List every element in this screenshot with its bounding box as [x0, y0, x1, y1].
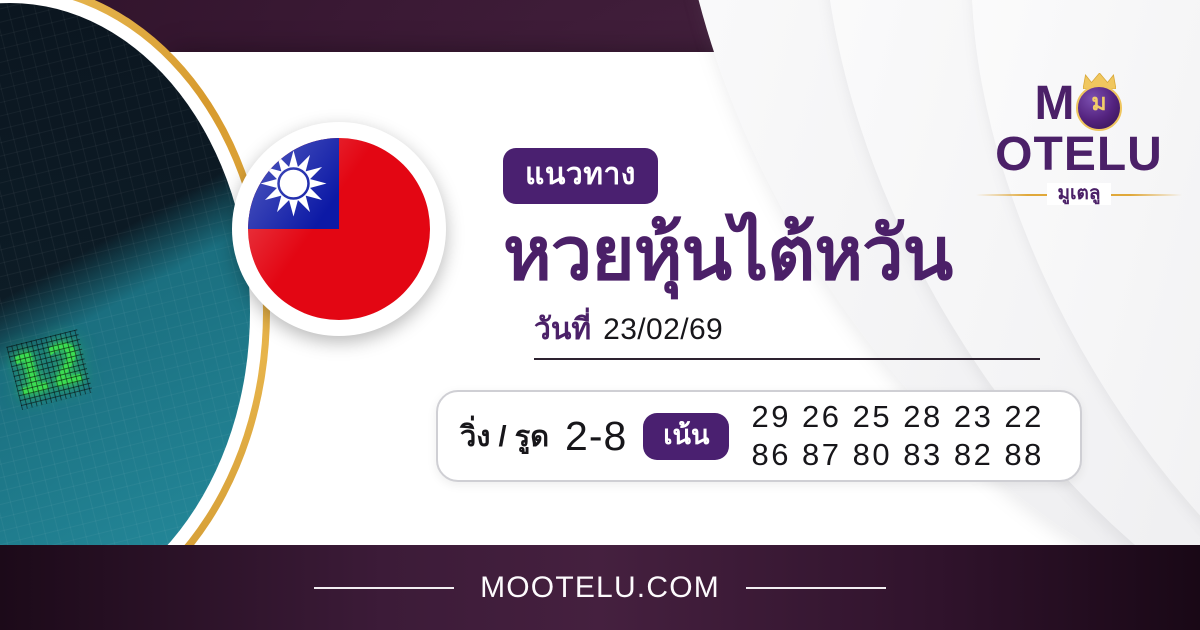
taiwan-flag-icon: [248, 138, 430, 320]
footer-site: MOOTELU.COM: [480, 571, 720, 605]
flag-gloss: [248, 138, 430, 320]
led-board: 2.81 8.37 7.78 12.40 0.99 0.68 17.21 1.3…: [0, 3, 250, 621]
brand-logo[interactable]: MมOTELU มูเตลู: [968, 78, 1190, 205]
crown-medallion-icon: ม: [1076, 82, 1122, 128]
led-value: 12: [6, 329, 93, 410]
footer-rule-right: [746, 587, 886, 589]
footer-bar: MOOTELU.COM: [0, 545, 1200, 630]
focus-badge: เน้น: [643, 413, 729, 460]
date-line: วันที่ 23/02/69: [534, 306, 1040, 360]
page-title: หวยหุ้นไต้หวัน: [503, 216, 1063, 291]
focus-numbers-row: 29 26 25 28 23 22: [751, 399, 1043, 435]
flag-badge: [232, 122, 446, 336]
guide-badge: แนวทาง: [503, 148, 658, 204]
brand-word-post: OTELU: [995, 131, 1163, 179]
brand-subtitle-wrap: มูเตลู: [968, 183, 1190, 205]
medallion-char: ม: [1076, 91, 1122, 114]
numbers-panel: วิ่ง / รูด 2-8 เน้น 29 26 25 28 23 22 86…: [436, 390, 1082, 482]
poster-canvas: 2.81 8.37 7.78 12.40 0.99 0.68 17.21 1.3…: [0, 0, 1200, 630]
footer-rule-left: [314, 587, 454, 589]
run-label: วิ่ง / รูด: [460, 413, 549, 459]
focus-numbers-row: 86 87 80 83 82 88: [751, 437, 1043, 473]
date-value: 23/02/69: [603, 313, 723, 347]
brand-wordmark: MมOTELU: [968, 78, 1190, 179]
brand-subtitle: มูเตลู: [1047, 183, 1110, 205]
stock-ticker-circle: 2.81 8.37 7.78 12.40 0.99 0.68 17.21 1.3…: [0, 0, 270, 630]
date-label: วันที่: [534, 306, 591, 353]
run-value: 2-8: [565, 413, 627, 460]
brand-word-pre: M: [1035, 80, 1076, 128]
focus-numbers: 29 26 25 28 23 22 86 87 80 83 82 88: [751, 399, 1043, 473]
